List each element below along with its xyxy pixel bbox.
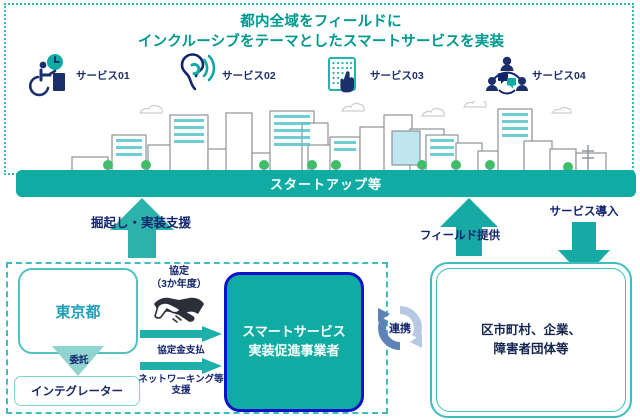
label-entrust: 委託 xyxy=(56,352,102,366)
service-item-02: サービス02 xyxy=(174,53,276,97)
box-tokyo-label: 東京都 xyxy=(55,301,100,322)
label-agreement-payment: 協定金支払 xyxy=(131,342,231,356)
label-agreement: 協定 （3か年度） xyxy=(136,266,222,291)
label-networking-line-2: 支援 xyxy=(171,385,190,396)
box-main-line-2: 実装促進事業者 xyxy=(248,343,339,358)
service-item-03: サービス03 xyxy=(322,53,424,97)
label-agreement-line-2: （3か年度） xyxy=(151,279,207,290)
service-label-03: サービス03 xyxy=(370,68,424,83)
box-tokyo: 東京都 xyxy=(18,268,138,354)
arrow-networking-support xyxy=(140,358,222,374)
box-partners-line-2: 障害者団体等 xyxy=(493,342,568,356)
label-networking-support: ネットワーキング等 支援 xyxy=(129,374,233,397)
box-integrator-label: インテグレーター xyxy=(31,383,123,399)
ear-soundwave-icon xyxy=(174,53,220,97)
service-label-02: サービス02 xyxy=(222,68,276,83)
label-kikiokoshi: 掘起し・実装支援 xyxy=(56,212,226,231)
top-panel: 都内全域をフィールドに インクルーシブをテーマとしたスマートサービスを実装 サー… xyxy=(4,3,634,175)
arrow-agreement-payment xyxy=(140,326,222,342)
people-network-chat-icon xyxy=(484,53,530,97)
braille-tablet-hand-icon xyxy=(322,53,368,97)
label-collaboration: 連携 xyxy=(372,320,428,336)
label-agreement-line-1: 協定 xyxy=(169,266,189,277)
label-networking-line-1: ネットワーキング等 xyxy=(138,374,223,385)
box-partners-line-1: 区市町村、企業、 xyxy=(481,323,581,337)
box-main-label: スマートサービス 実装促進事業者 xyxy=(242,323,346,361)
diagram-canvas: 都内全域をフィールドに インクルーシブをテーマとしたスマートサービスを実装 サー… xyxy=(0,0,640,420)
handshake-icon xyxy=(150,292,208,326)
service-item-04: サービス04 xyxy=(484,53,586,97)
box-partners: 区市町村、企業、 障害者団体等 xyxy=(430,262,632,418)
headline-line-2: インクルーシブをテーマとしたスマートサービスを実装 xyxy=(6,33,636,53)
box-main-line-1: スマートサービス xyxy=(242,324,346,339)
cityscape-illustration xyxy=(12,101,638,175)
startup-bar-label: スタートアップ等 xyxy=(270,174,382,193)
box-partners-label: 区市町村、企業、 障害者団体等 xyxy=(481,321,581,359)
service-item-01: サービス01 xyxy=(28,53,130,97)
label-field-provide: フィールド提供 xyxy=(385,227,535,243)
wheelchair-clock-icon xyxy=(28,53,74,97)
page-title: 都内全域をフィールドに インクルーシブをテーマとしたスマートサービスを実装 xyxy=(6,13,636,52)
headline-line-1: 都内全域をフィールドに xyxy=(6,13,636,33)
label-service-intro: サービス導入 xyxy=(524,203,640,219)
box-smart-service-promoter: スマートサービス 実装促進事業者 xyxy=(224,272,364,412)
service-label-04: サービス04 xyxy=(532,68,586,83)
startup-bar: スタートアップ等 xyxy=(16,170,636,197)
service-label-01: サービス01 xyxy=(76,68,130,83)
box-integrator: インテグレーター xyxy=(14,376,140,406)
